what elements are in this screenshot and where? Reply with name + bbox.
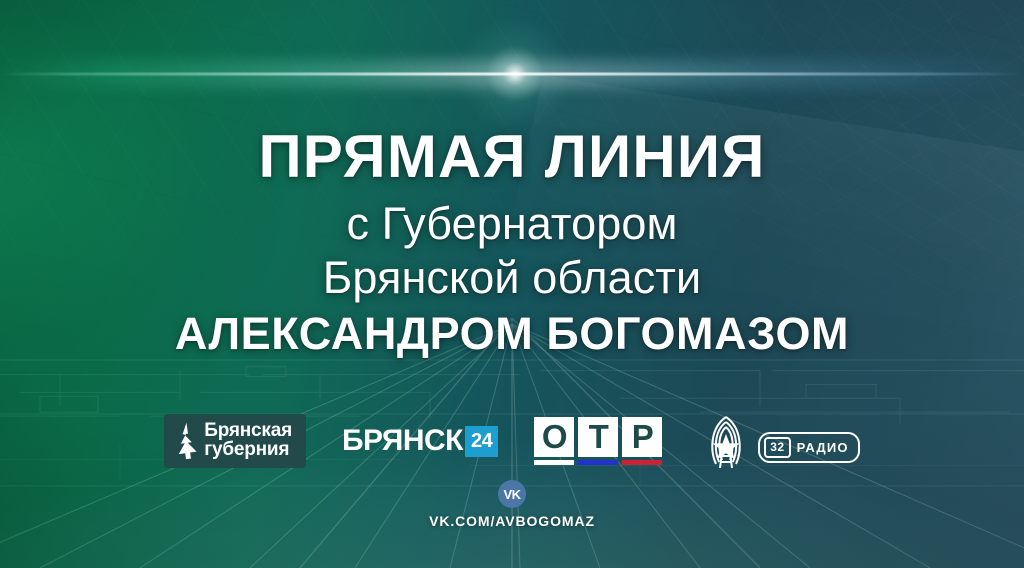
bryansk24-badge: 24: [465, 426, 498, 457]
subtitle-line-2: Брянской области: [0, 251, 1024, 305]
page-title: ПРЯМАЯ ЛИНИЯ: [0, 126, 1024, 187]
radio-pill: 32 РАДИО: [758, 432, 859, 463]
logo-bryansk-24: БРЯНСК 24: [342, 426, 498, 457]
otr-letter-cell-3: Р: [622, 417, 662, 465]
otr-letter-o: О: [534, 417, 574, 457]
guberniya-wordmark: Брянская губерния: [204, 422, 292, 459]
otr-bar-white: [534, 460, 574, 465]
logo-bryanskaya-guberniya: Брянская губерния: [164, 414, 306, 468]
partner-logos-row: Брянская губерния БРЯНСК 24 О Т Р: [0, 414, 1024, 468]
radio-number: 32: [764, 437, 790, 458]
otr-letter-t: Т: [578, 417, 618, 457]
radio-tower-star-icon: [698, 414, 754, 468]
broadcast-banner: ПРЯМАЯ ЛИНИЯ с Губернатором Брянской обл…: [0, 0, 1024, 568]
logo-otr: О Т Р: [534, 417, 662, 465]
otr-bar-blue: [578, 460, 618, 465]
headline-block: ПРЯМАЯ ЛИНИЯ с Губернатором Брянской обл…: [0, 126, 1024, 360]
vk-block[interactable]: VK VK.COM/AVBOGOMAZ: [0, 480, 1024, 529]
spruce-tree-icon: [175, 423, 197, 459]
logo-32-radio: 32 РАДИО: [698, 414, 859, 468]
otr-letter-r: Р: [622, 417, 662, 457]
guberniya-line-2: губерния: [204, 441, 292, 460]
bryansk24-word: БРЯНСК: [342, 426, 463, 456]
otr-letter-cell-2: Т: [578, 417, 618, 465]
otr-bar-red: [622, 460, 662, 465]
subtitle-line-1: с Губернатором: [0, 197, 1024, 251]
radio-word: РАДИО: [797, 441, 849, 454]
governor-name: АЛЕКСАНДРОМ БОГОМАЗОМ: [0, 307, 1024, 360]
otr-letter-cell-1: О: [534, 417, 574, 465]
vk-icon[interactable]: VK: [498, 480, 526, 508]
lens-flare-core: [455, 14, 575, 134]
vk-url[interactable]: VK.COM/AVBOGOMAZ: [429, 513, 595, 529]
